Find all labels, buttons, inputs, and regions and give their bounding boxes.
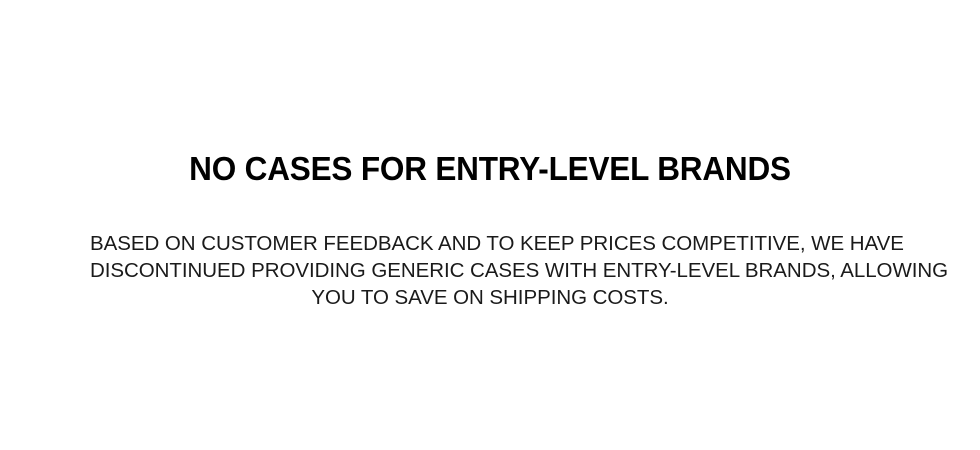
- page-title: NO CASES FOR ENTRY-LEVEL BRANDS: [189, 152, 791, 185]
- notice-banner: NO CASES FOR ENTRY-LEVEL BRANDS BASED ON…: [0, 0, 980, 450]
- notice-description-line: YOU TO SAVE ON SHIPPING COSTS.: [90, 284, 890, 311]
- notice-description: BASED ON CUSTOMER FEEDBACK AND TO KEEP P…: [90, 185, 890, 311]
- notice-description-line: BASED ON CUSTOMER FEEDBACK AND TO KEEP P…: [90, 230, 890, 257]
- notice-description-line: DISCONTINUED PROVIDING GENERIC CASES WIT…: [90, 257, 890, 284]
